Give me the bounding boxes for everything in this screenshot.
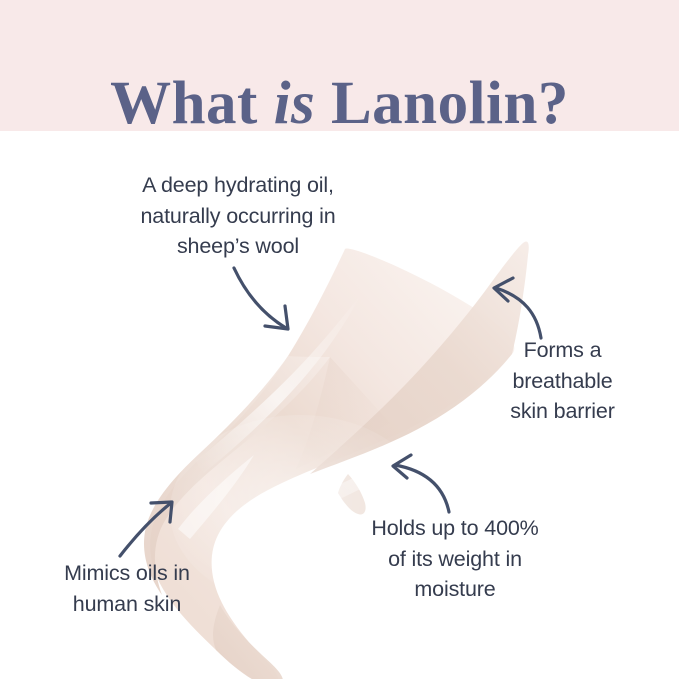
callout-holds-moisture: Holds up to 400% of its weight in moistu… <box>324 513 586 605</box>
callout-breathable-skin-barrier: Forms a breathable skin barrier <box>470 335 655 427</box>
page-title-emphasis: is <box>274 73 316 134</box>
callout-mimics-skin-oils: Mimics oils in human skin <box>22 558 232 619</box>
callout-deep-hydrating-oil: A deep hydrating oil, naturally occurrin… <box>78 170 398 262</box>
page-title-suffix: Lanolin? <box>315 73 569 134</box>
lanolin-infographic: What is Lanolin? <box>0 0 679 679</box>
page-title-prefix: What <box>110 73 274 134</box>
